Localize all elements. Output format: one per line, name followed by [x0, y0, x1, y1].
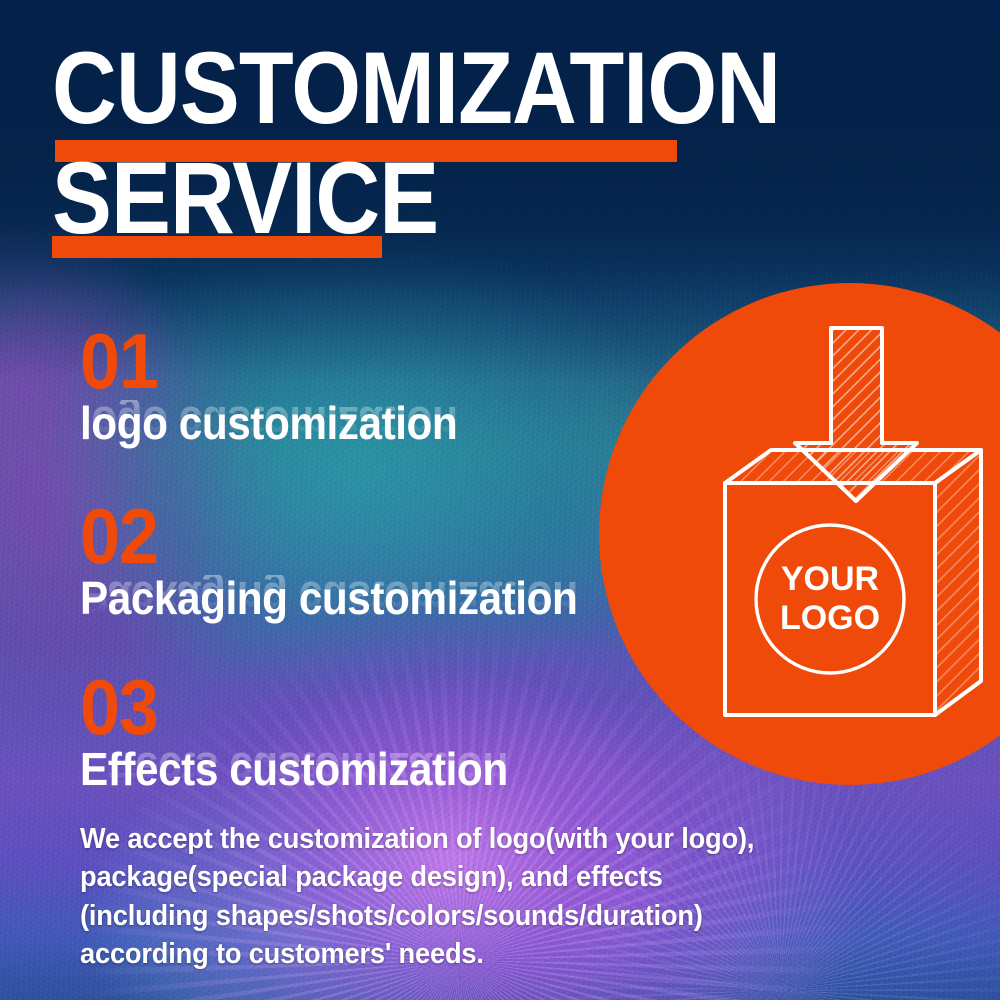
service-item-number: 02	[80, 505, 577, 569]
logo-placeholder-line-2: LOGO	[780, 599, 880, 637]
service-item-label: Packaging customization	[80, 575, 577, 621]
service-item-01: 01 logo customization logo customization	[80, 330, 490, 446]
service-item-03: 03 Effects customization Effects customi…	[80, 676, 545, 792]
box-side-face	[935, 450, 981, 715]
service-item-label-wrap: logo customization logo customization	[80, 400, 490, 446]
service-item-label-wrap: Packaging customization Packaging custom…	[80, 575, 621, 621]
package-illustration: YOUR LOGO	[599, 283, 1000, 785]
service-item-02: 02 Packaging customization Packaging cus…	[80, 505, 621, 621]
service-item-label: Effects customization	[80, 746, 508, 792]
service-item-number: 01	[80, 330, 457, 394]
headline-block: CUSTOMIZATION SERVICE	[52, 44, 880, 244]
body-paragraph: We accept the customization of logo(with…	[80, 820, 794, 973]
service-item-number: 03	[80, 676, 508, 740]
page-title-line-2: SERVICE	[52, 154, 780, 244]
page-title-line-1: CUSTOMIZATION	[52, 44, 780, 134]
promo-banner: CUSTOMIZATION SERVICE 01 logo customizat…	[0, 0, 1000, 1000]
logo-placeholder-line-1: YOUR	[781, 560, 879, 598]
service-item-label: logo customization	[80, 400, 457, 446]
service-item-label-wrap: Effects customization Effects customizat…	[80, 746, 545, 792]
